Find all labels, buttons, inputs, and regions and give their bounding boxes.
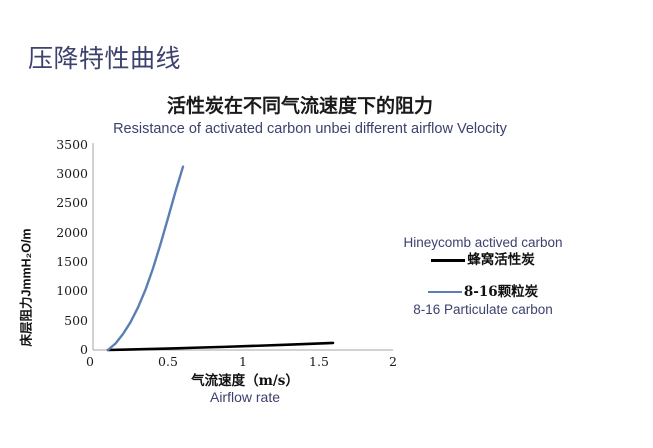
x-axis-title-english: Airflow rate [120,389,370,405]
x-tick-label: 0.5 [143,354,193,369]
legend-caption-honeycomb-english: Hineycomb actived carbon [378,234,588,251]
chart-container: 活性炭在不同气流速度下的阻力 Resistance of activated c… [0,88,653,428]
x-tick-label: 1.5 [294,354,344,369]
legend-label-honeycomb-chinese: 蜂窝活性炭 [467,251,535,269]
legend-caption-particulate-english: 8-16 Particulate carbon [378,301,588,318]
x-tick-label: 2 [368,354,418,369]
x-tick-label: 0 [65,354,115,369]
legend-item-honeycomb[interactable]: 蜂窝活性炭 [378,251,588,269]
plot-area: 床层阻力JmmH₂O/m 3500 3000 2500 2000 1500 10… [0,88,653,428]
legend-item-particulate[interactable]: 8-16颗粒炭 [378,283,588,301]
chart-legend: Hineycomb actived carbon 蜂窝活性炭 8-16颗粒炭 8… [378,234,588,318]
x-axis-title-chinese: 气流速度（m/s） [120,369,370,389]
legend-label-particulate-chinese: 8-16颗粒炭 [464,283,538,301]
legend-line-icon-particulate [428,291,462,293]
slide-canvas: 压降特性曲线 活性炭在不同气流速度下的阻力 Resistance of acti… [0,0,653,448]
page-title: 压降特性曲线 [28,44,181,74]
legend-line-icon-honeycomb [431,259,465,262]
legend-spacer [378,269,588,283]
x-tick-label: 1 [218,354,268,369]
